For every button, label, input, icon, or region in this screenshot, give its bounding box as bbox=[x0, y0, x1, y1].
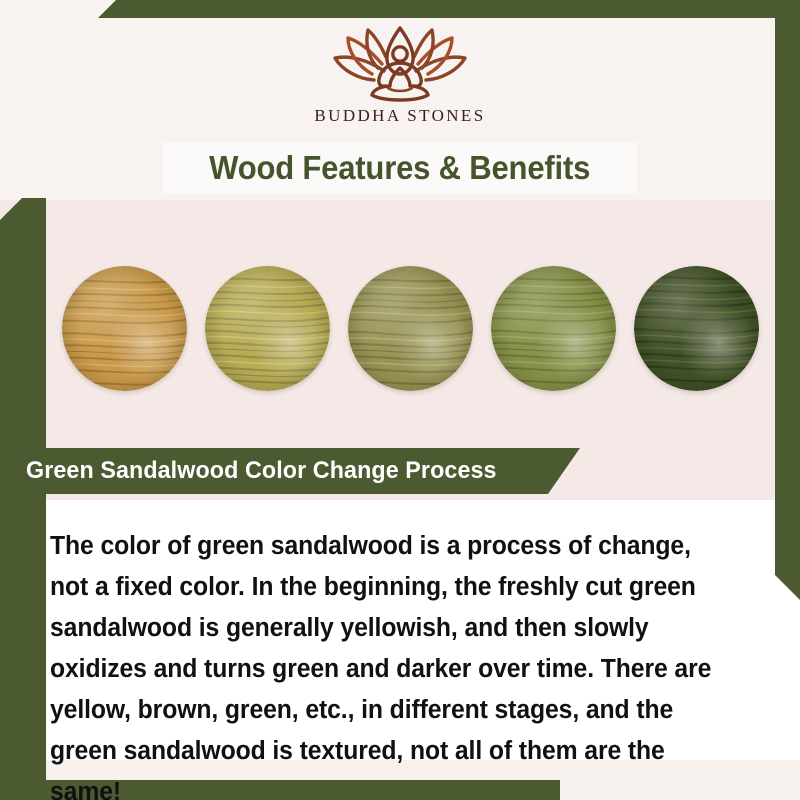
bead-shading bbox=[62, 266, 187, 391]
bead-stage-3 bbox=[348, 266, 473, 391]
frame-border-left bbox=[0, 198, 46, 800]
bead-color-stage-row bbox=[46, 248, 775, 408]
bead-stage-4 bbox=[491, 266, 616, 391]
section-heading-bar: Green Sandalwood Color Change Process bbox=[0, 448, 580, 494]
bead-stage-1 bbox=[62, 266, 187, 391]
frame-border-top bbox=[0, 0, 800, 18]
body-copy-block: The color of green sandalwood is a proce… bbox=[46, 512, 758, 768]
brand-name: BUDDHA STONES bbox=[314, 106, 485, 126]
bead-shading bbox=[205, 266, 330, 391]
bead-shading bbox=[491, 266, 616, 391]
brand-logo: BUDDHA STONES bbox=[0, 24, 800, 136]
poster-root: BUDDHA STONES Wood Features & Benefits bbox=[0, 0, 800, 800]
body-paragraph: The color of green sandalwood is a proce… bbox=[50, 526, 719, 800]
section-heading-text: Green Sandalwood Color Change Process bbox=[26, 457, 497, 485]
bead-shading bbox=[348, 266, 473, 391]
page-title: Wood Features & Benefits bbox=[209, 149, 590, 187]
bead-stage-2 bbox=[205, 266, 330, 391]
page-title-banner: Wood Features & Benefits bbox=[163, 142, 637, 194]
lotus-meditation-figure-icon bbox=[310, 24, 490, 102]
bead-stage-5 bbox=[634, 266, 759, 391]
bead-shading bbox=[634, 266, 759, 391]
